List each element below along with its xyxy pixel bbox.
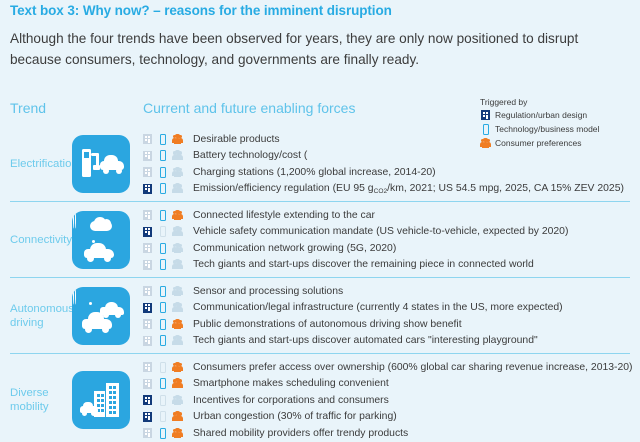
enabling-force-text: Incentives for corporations and consumer… <box>193 395 389 406</box>
phone-icon <box>157 166 168 178</box>
people-icon <box>172 378 183 390</box>
enabling-force-text: Charging stations (1,200% global increas… <box>193 167 436 178</box>
building-icon <box>142 411 153 423</box>
trigger-icons <box>142 133 189 145</box>
people-icon <box>172 183 183 195</box>
trend-table: ElectrificationDesirable productsBattery… <box>0 131 640 442</box>
enabling-force-item: Charging stations (1,200% global increas… <box>142 164 640 181</box>
enabling-force-item: Shared mobility providers offer trendy p… <box>142 425 640 442</box>
people-icon <box>172 285 183 297</box>
trigger-icons <box>142 318 189 330</box>
row-divider <box>10 353 630 354</box>
building-icon <box>142 378 153 390</box>
trigger-icons <box>142 183 189 195</box>
people-icon <box>172 166 183 178</box>
enabling-force-text: Desirable products <box>193 134 280 145</box>
phone-icon <box>157 335 168 347</box>
enabling-forces-list: Consumers prefer access over ownership (… <box>142 359 640 442</box>
enabling-force-text: Public demonstrations of autonomous driv… <box>193 319 462 330</box>
building-icon <box>142 183 153 195</box>
building-icon <box>142 209 153 221</box>
enabling-force-item: Connected lifestyle extending to the car <box>142 207 640 224</box>
enabling-force-item: Public demonstrations of autonomous driv… <box>142 316 640 333</box>
phone-icon <box>157 226 168 238</box>
trigger-icons <box>142 427 189 439</box>
enabling-force-text: Smartphone makes scheduling convenient <box>193 378 389 389</box>
legend-item-regulation: Regulation/urban design <box>480 109 640 121</box>
phone-icon <box>157 427 168 439</box>
phone-icon <box>157 209 168 221</box>
trend-label: Diverse mobility <box>10 386 72 414</box>
people-icon <box>172 209 183 221</box>
trend-label: Electrification <box>10 157 72 171</box>
people-icon <box>172 361 183 373</box>
phone-icon <box>157 242 168 254</box>
trigger-icons <box>142 242 189 254</box>
column-header-trend: Trend <box>10 100 46 116</box>
phone-icon <box>157 133 168 145</box>
phone-icon <box>157 150 168 162</box>
enabling-force-item: Communication network growing (5G, 2020) <box>142 240 640 257</box>
enabling-force-text: Urban congestion (30% of traffic for par… <box>193 411 397 422</box>
enabling-force-text: Connected lifestyle extending to the car <box>193 210 375 221</box>
enabling-forces-list: Connected lifestyle extending to the car… <box>142 207 640 273</box>
trigger-icons <box>142 411 189 423</box>
phone-icon <box>157 318 168 330</box>
row-divider <box>10 277 630 278</box>
trend-row: ConnectivityConnected lifestyle extendin… <box>0 207 640 273</box>
enabling-force-item: Communication/legal infrastructure (curr… <box>142 300 640 317</box>
enabling-force-item: Incentives for corporations and consumer… <box>142 392 640 409</box>
building-icon <box>142 242 153 254</box>
enabling-force-text: Tech giants and start-ups discover the r… <box>193 259 534 270</box>
trigger-icons <box>142 302 189 314</box>
enabling-force-item: Tech giants and start-ups discover the r… <box>142 257 640 274</box>
legend-label-regulation: Regulation/urban design <box>495 110 587 120</box>
building-icon <box>142 285 153 297</box>
people-icon <box>172 394 183 406</box>
building-icon <box>142 361 153 373</box>
enabling-force-text: Communication network growing (5G, 2020) <box>193 243 396 254</box>
trend-row: ElectrificationDesirable productsBattery… <box>0 131 640 197</box>
people-icon <box>172 411 183 423</box>
building-icon <box>142 133 153 145</box>
autonomous-cars-sensor-icon <box>72 287 130 345</box>
enabling-force-item: Emission/efficiency regulation (EU 95 gC… <box>142 181 640 198</box>
phone-icon <box>157 302 168 314</box>
enabling-force-text: Battery technology/cost ( <box>193 150 307 161</box>
enabling-force-item: Vehicle safety communication mandate (US… <box>142 224 640 241</box>
phone-icon <box>157 361 168 373</box>
enabling-force-item: Consumers prefer access over ownership (… <box>142 359 640 376</box>
trigger-icons <box>142 285 189 297</box>
enabling-force-text: Vehicle safety communication mandate (US… <box>193 226 568 237</box>
trigger-icons <box>142 361 189 373</box>
building-icon <box>142 166 153 178</box>
page-title: Text box 3: Why now? – reasons for the i… <box>10 3 392 18</box>
row-divider <box>10 201 630 202</box>
people-icon <box>172 259 183 271</box>
enabling-force-item: Smartphone makes scheduling convenient <box>142 376 640 393</box>
legend-title: Triggered by <box>480 97 640 107</box>
intro-paragraph: Although the four trends have been obser… <box>10 28 625 70</box>
trend-label: Connectivity <box>10 233 72 247</box>
enabling-force-item: Urban congestion (30% of traffic for par… <box>142 409 640 426</box>
building-icon <box>142 259 153 271</box>
enabling-force-text: Communication/legal infrastructure (curr… <box>193 302 563 313</box>
building-icon <box>142 318 153 330</box>
enabling-force-text: Emission/efficiency regulation (EU 95 gC… <box>193 183 624 194</box>
building-icon <box>142 150 153 162</box>
building-icon <box>480 109 491 121</box>
building-icon <box>142 226 153 238</box>
people-icon <box>172 242 183 254</box>
trigger-icons <box>142 378 189 390</box>
phone-icon <box>157 394 168 406</box>
trigger-icons <box>142 209 189 221</box>
enabling-force-item: Battery technology/cost ( <box>142 148 640 165</box>
trend-row: Autonomous drivingSensor and processing … <box>0 283 640 349</box>
people-icon <box>172 133 183 145</box>
column-header-forces: Current and future enabling forces <box>143 100 355 116</box>
phone-icon <box>157 411 168 423</box>
phone-icon <box>157 183 168 195</box>
cloud-connected-car-icon <box>72 211 130 269</box>
phone-icon <box>157 285 168 297</box>
trigger-icons <box>142 226 189 238</box>
people-icon <box>172 335 183 347</box>
enabling-force-item: Sensor and processing solutions <box>142 283 640 300</box>
enabling-force-item: Tech giants and start-ups discover autom… <box>142 333 640 350</box>
building-icon <box>142 427 153 439</box>
enabling-force-text: Tech giants and start-ups discover autom… <box>193 335 538 346</box>
trigger-icons <box>142 259 189 271</box>
people-icon <box>172 150 183 162</box>
people-icon <box>172 226 183 238</box>
city-buildings-car-icon <box>72 371 130 429</box>
phone-icon <box>157 378 168 390</box>
building-icon <box>142 302 153 314</box>
building-icon <box>142 394 153 406</box>
trigger-icons <box>142 335 189 347</box>
trigger-icons <box>142 150 189 162</box>
trend-row: Diverse mobilityConsumers prefer access … <box>0 359 640 442</box>
trigger-icons <box>142 166 189 178</box>
ev-charging-car-icon <box>72 135 130 193</box>
building-icon <box>142 335 153 347</box>
enabling-force-text: Sensor and processing solutions <box>193 286 343 297</box>
trigger-icons <box>142 394 189 406</box>
people-icon <box>172 302 183 314</box>
enabling-forces-list: Desirable productsBattery technology/cos… <box>142 131 640 197</box>
enabling-force-text: Consumers prefer access over ownership (… <box>193 362 633 373</box>
enabling-force-item: Desirable products <box>142 131 640 148</box>
trend-label: Autonomous driving <box>10 302 72 330</box>
phone-icon <box>157 259 168 271</box>
people-icon <box>172 318 183 330</box>
people-icon <box>172 427 183 439</box>
enabling-force-text: Shared mobility providers offer trendy p… <box>193 428 408 439</box>
enabling-forces-list: Sensor and processing solutionsCommunica… <box>142 283 640 349</box>
